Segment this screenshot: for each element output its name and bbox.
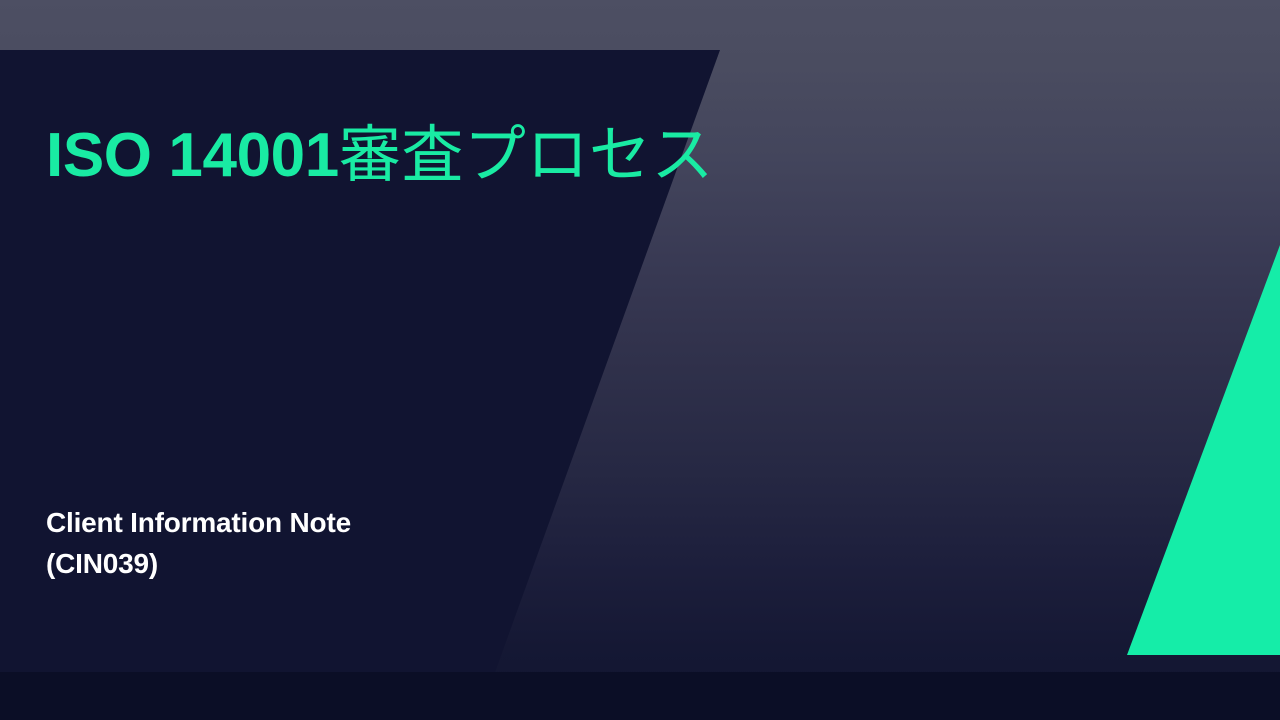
title-slide: ISO 14001審査プロセス Client Information Note(…	[0, 0, 1280, 720]
slide-subtitle: Client Information Note(CIN039)	[46, 503, 566, 585]
navy-footer-band	[0, 672, 1280, 720]
subtitle-line-2: (CIN039)	[46, 548, 158, 579]
slide-decoration-layer	[0, 0, 1280, 720]
title-main-text: ISO 14001	[46, 121, 339, 190]
subtitle-line-1: Client Information Note	[46, 507, 351, 538]
title-cjk-text: 審査プロセス	[339, 118, 714, 191]
teal-angled-accent	[1127, 245, 1280, 655]
page-title: ISO 14001審査プロセス	[46, 122, 706, 188]
